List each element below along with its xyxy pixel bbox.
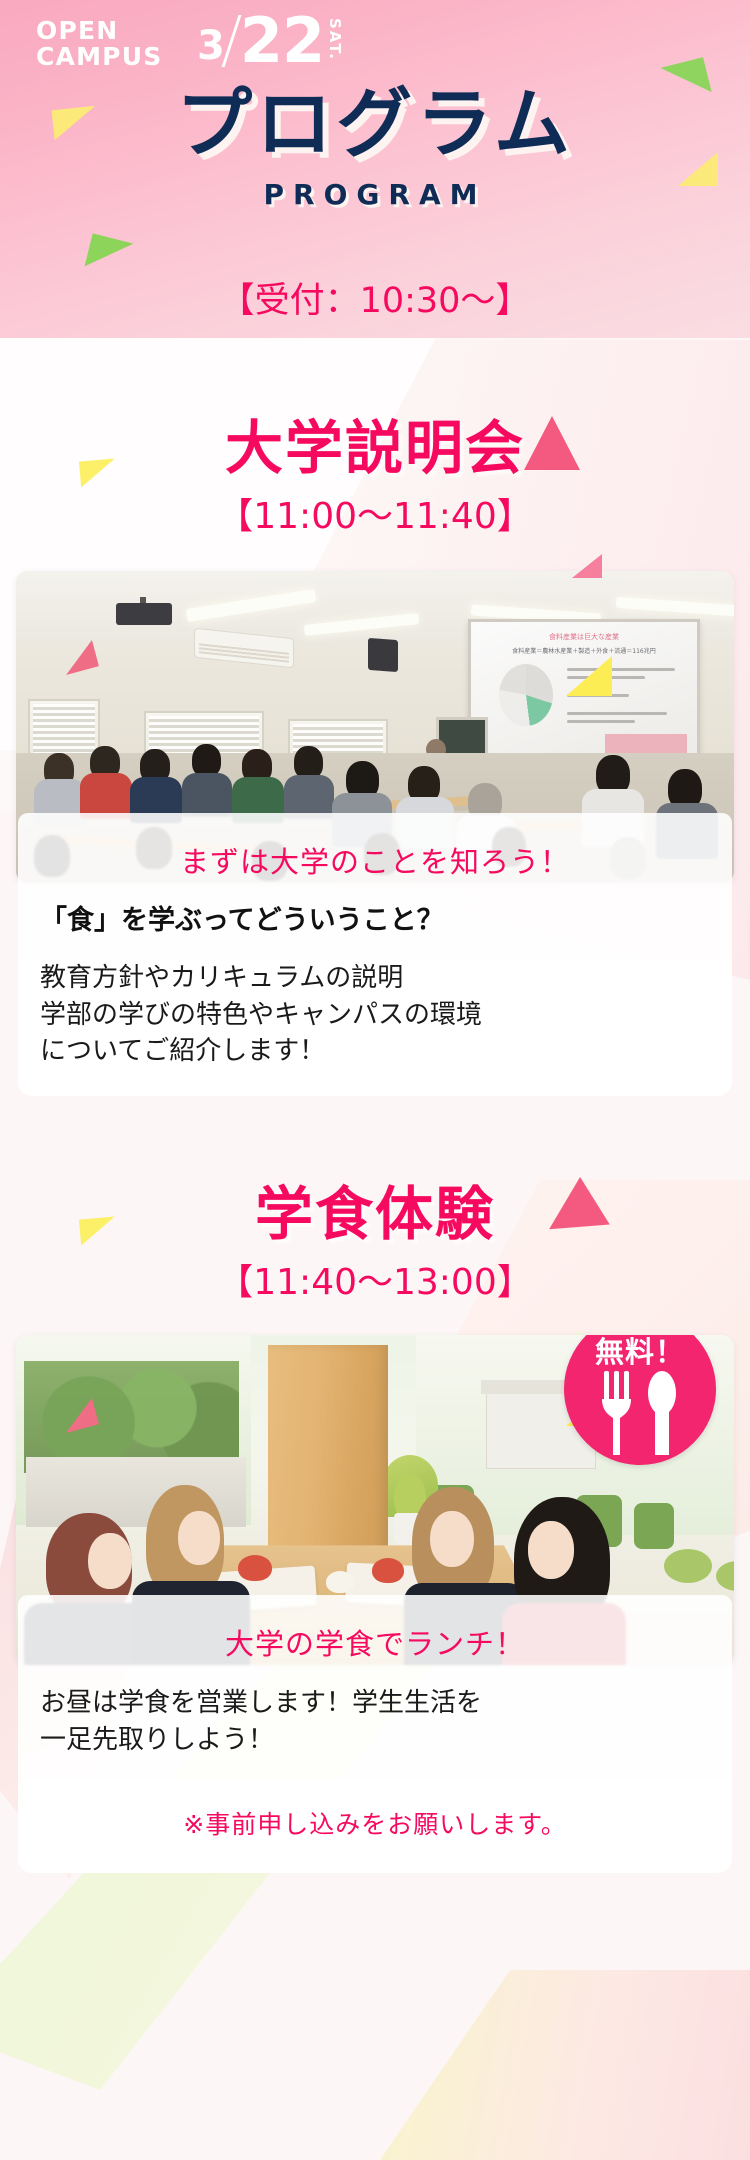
free-badge: 無料！ (564, 1335, 716, 1465)
event-date: 3 22 SAT. (197, 14, 342, 69)
flyer-header: OPEN CAMPUS 3 22 SAT. プログラム PROGRAM 【受付：… (0, 0, 750, 338)
section-1-caption-body: 教育方針やカリキュラムの説明 学部の学びの特色やキャンパスの環境 についてご紹介… (40, 960, 710, 1071)
section-university-briefing: 大学説明会 【11:00～11:40】 食料産業は巨大な産業 食料産業＝農林水産… (0, 338, 750, 1096)
free-badge-label: 無料！ (564, 1335, 716, 1371)
section-2-caption-title: 大学の学食でランチ！ (40, 1621, 710, 1663)
page-title: プログラム (0, 86, 750, 162)
section-1-header: 大学説明会 【11:00～11:40】 (0, 338, 750, 571)
triangle-green-icon (85, 233, 134, 276)
page-subtitle: PROGRAM (0, 178, 750, 211)
program-flyer: OPEN CAMPUS 3 22 SAT. プログラム PROGRAM 【受付：… (0, 0, 750, 2160)
section-2-time: 【11:40～13:00】 (0, 1253, 750, 1305)
section-2-header: 学食体験 【11:40～13:00】 (0, 1096, 750, 1335)
open-campus-line2: CAMPUS (36, 44, 162, 70)
section-2-note: ※事前申し込みをお願いします。 (40, 1779, 710, 1847)
triangle-yellow-icon (79, 1217, 117, 1246)
reception-time: 【受付：10:30～】 (0, 272, 750, 323)
open-campus-line1: OPEN (36, 16, 118, 45)
section-cafeteria-experience: 学食体験 【11:40～13:00】 (0, 1096, 750, 1873)
date-day: 22 (240, 14, 324, 69)
section-1-caption-title: まずは大学のことを知ろう！ (40, 839, 710, 881)
triangle-pink-small-icon (572, 554, 602, 578)
section-1-caption-lead: 「食」を学ぶってどういうこと？ (40, 903, 710, 940)
date-month: 3 (197, 26, 225, 69)
section-2-caption-card-top: 大学の学食でランチ！ お昼は学食を営業します！学生生活を 一足先取りしよう！ (18, 1595, 732, 1779)
triangle-yellow-icon (79, 458, 117, 487)
triangle-yellow-large-icon (566, 656, 612, 696)
triangle-pink-large-icon (524, 416, 580, 470)
section-2-caption-body: お昼は学食を営業します！学生生活を 一足先取りしよう！ (40, 1685, 710, 1759)
section-1-time: 【11:00～11:40】 (0, 487, 750, 539)
open-campus-label: OPEN CAMPUS (36, 18, 162, 71)
fork-and-spoon-icon (564, 1371, 716, 1455)
section-1-caption-card-bottom: 教育方針やカリキュラムの説明 学部の学びの特色やキャンパスの環境 についてご紹介… (18, 960, 732, 1097)
section-2-caption-card-bottom: ※事前申し込みをお願いします。 (18, 1779, 732, 1873)
date-weekday: SAT. (327, 18, 342, 69)
section-1-caption-card-top: まずは大学のことを知ろう！ 「食」を学ぶってどういうこと？ (18, 813, 732, 960)
